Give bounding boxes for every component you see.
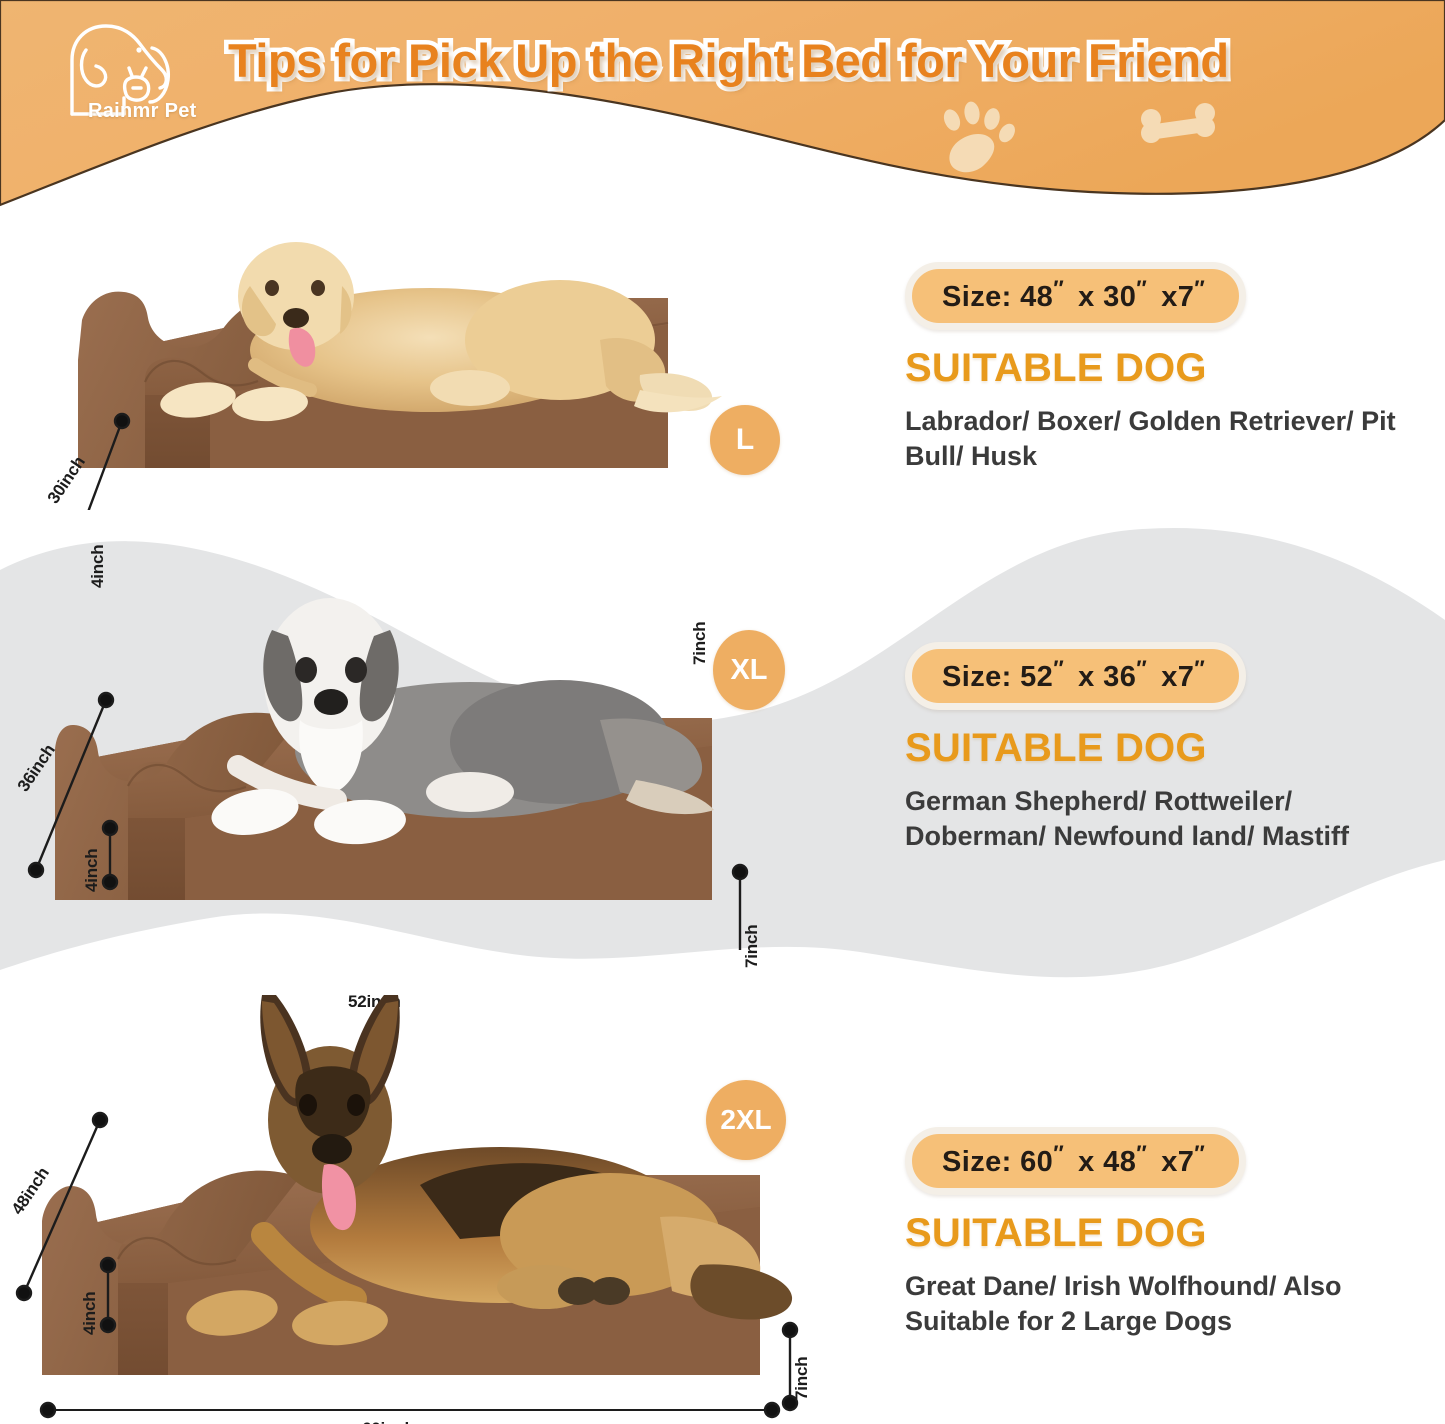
header-banner: Rainmr Pet Tips for Pick Up the Right Be… bbox=[0, 0, 1445, 215]
suitable-dog-heading-l: SUITABLE DOG bbox=[905, 346, 1435, 391]
bed-illustration-2xl bbox=[0, 935, 840, 1424]
suitable-dog-heading-2xl: SUITABLE DOG bbox=[905, 1211, 1435, 1256]
inch-mark-icon: ″ bbox=[1194, 276, 1205, 301]
size-width-l: 48 bbox=[1020, 281, 1053, 313]
page-title: Tips for Pick Up the Right Bed for Your … bbox=[228, 33, 1428, 88]
size-height-l: 7 bbox=[1178, 281, 1195, 313]
size-label-xl: Size: bbox=[942, 661, 1012, 693]
section-size-l: 30inch 4inch 7inch 48inch L bbox=[0, 190, 800, 510]
brand-name: Rainmr Pet bbox=[88, 100, 197, 123]
dim-bolster-2xl: 4inch bbox=[80, 1292, 100, 1335]
section-size-2xl: 48inch 4inch 7inch 60inch 2XL bbox=[0, 935, 840, 1424]
breed-list-xl: German Shepherd/ Rottweiler/ Doberman/ N… bbox=[905, 784, 1425, 854]
inch-mark-icon: ″ bbox=[1053, 656, 1064, 681]
inch-mark-icon: ″ bbox=[1194, 1141, 1205, 1166]
inch-mark-icon: ″ bbox=[1136, 1141, 1147, 1166]
breed-list-l: Labrador/ Boxer/ Golden Retriever/ Pit B… bbox=[905, 404, 1425, 474]
size-badge-2xl: 2XL bbox=[706, 1080, 786, 1160]
size-pill-xl: Size: 52″x 36″x7″ bbox=[905, 642, 1246, 710]
size-badge-xl: XL bbox=[713, 630, 785, 710]
size-pill-l: Size: 48″x 30″x7″ bbox=[905, 262, 1246, 330]
dim-bolster-xl: 4inch bbox=[82, 849, 102, 892]
size-depth-2xl: 48 bbox=[1103, 1146, 1136, 1178]
size-label-l: Size: bbox=[942, 281, 1012, 313]
size-depth-xl: 36 bbox=[1103, 661, 1136, 693]
inch-mark-icon: ″ bbox=[1136, 276, 1147, 301]
size-label-2xl: Size: bbox=[942, 1146, 1012, 1178]
dim-length-2xl: 60inch bbox=[362, 1419, 415, 1424]
size-badge-l: L bbox=[710, 405, 780, 475]
size-width-xl: 52 bbox=[1020, 661, 1053, 693]
suitable-dog-heading-xl: SUITABLE DOG bbox=[905, 726, 1435, 771]
inch-mark-icon: ″ bbox=[1194, 656, 1205, 681]
dim-height-2xl: 7inch bbox=[792, 1357, 812, 1400]
bone-icon bbox=[1141, 103, 1215, 143]
size-height-2xl: 7 bbox=[1178, 1146, 1195, 1178]
infographic-page: Rainmr Pet Tips for Pick Up the Right Be… bbox=[0, 0, 1445, 1424]
size-width-2xl: 60 bbox=[1020, 1146, 1053, 1178]
inch-mark-icon: ″ bbox=[1053, 1141, 1064, 1166]
bed-illustration-xl bbox=[0, 570, 820, 950]
size-depth-l: 30 bbox=[1103, 281, 1136, 313]
panel-size-xl: Size: 52″x 36″x7″ SUITABLE DOG German Sh… bbox=[905, 642, 1435, 854]
bed-illustration-l bbox=[0, 190, 800, 510]
section-size-xl: 36inch 4inch 7inch 52inch XL bbox=[0, 570, 820, 950]
breed-list-2xl: Great Dane/ Irish Wolfhound/ Also Suitab… bbox=[905, 1269, 1425, 1339]
inch-mark-icon: ″ bbox=[1053, 276, 1064, 301]
panel-size-2xl: Size: 60″x 48″x7″ SUITABLE DOG Great Dan… bbox=[905, 1127, 1435, 1339]
panel-size-l: Size: 48″x 30″x7″ SUITABLE DOG Labrador/… bbox=[905, 262, 1435, 474]
inch-mark-icon: ″ bbox=[1136, 656, 1147, 681]
paw-print-icon bbox=[941, 101, 1018, 173]
size-height-xl: 7 bbox=[1178, 661, 1195, 693]
size-pill-2xl: Size: 60″x 48″x7″ bbox=[905, 1127, 1246, 1195]
